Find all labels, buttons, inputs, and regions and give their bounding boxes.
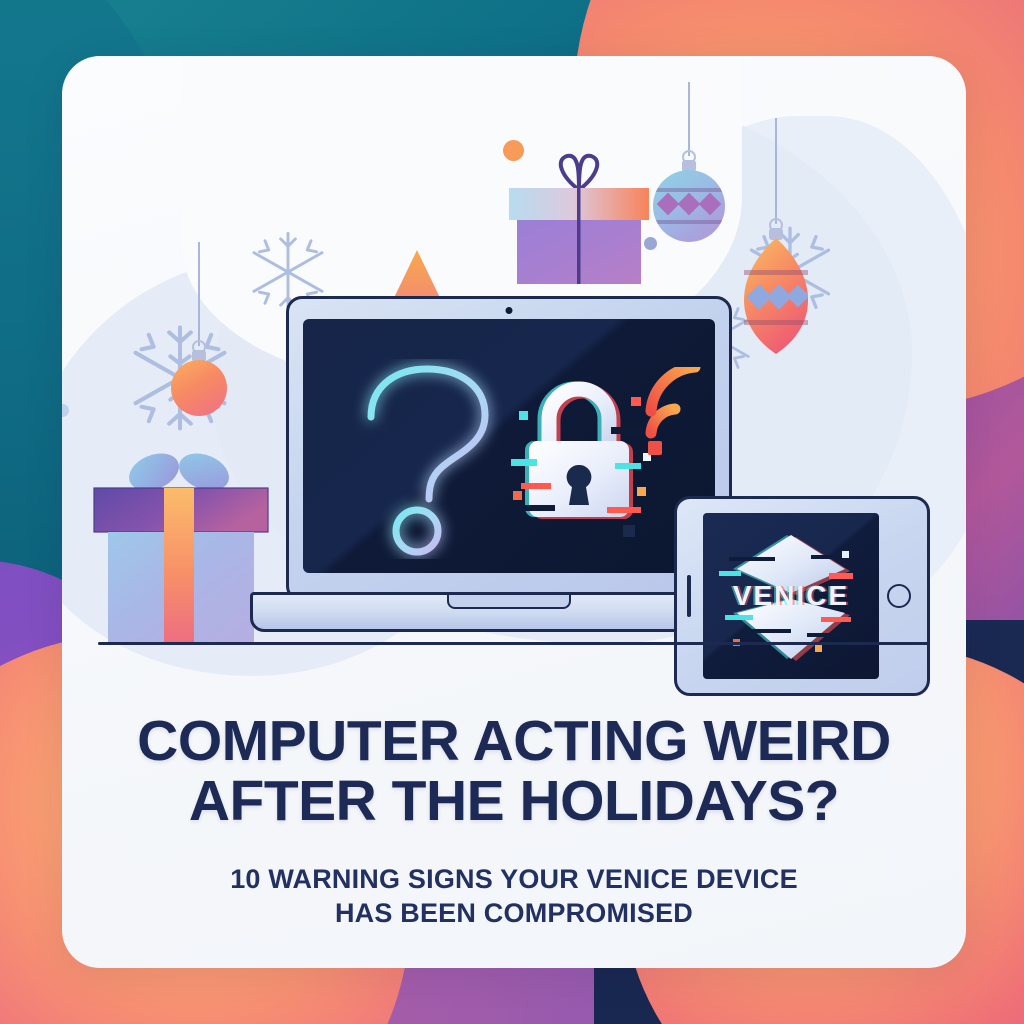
tablet-body: VENICE bbox=[674, 496, 930, 696]
decor-dot bbox=[62, 404, 69, 417]
webcam-icon bbox=[506, 307, 513, 314]
tablet-screen: VENICE bbox=[703, 513, 879, 679]
tablet-speaker bbox=[687, 575, 691, 617]
laptop-lid bbox=[286, 296, 732, 602]
page-subtitle: 10 WARNING SIGNS YOUR VENICE DEVICE HAS … bbox=[62, 862, 966, 931]
padlock-icon bbox=[511, 367, 681, 537]
question-mark-icon bbox=[345, 359, 515, 559]
poster-canvas: VENICE COMPUTER ACTING WEIRD AFTER THE H… bbox=[0, 0, 1024, 1024]
venice-logo-text: VENICE bbox=[733, 580, 849, 612]
ornament-icon bbox=[170, 242, 228, 402]
laptop-trackpad bbox=[447, 595, 571, 609]
content-card: VENICE COMPUTER ACTING WEIRD AFTER THE H… bbox=[62, 56, 966, 968]
subhead-line-1: 10 WARNING SIGNS YOUR VENICE DEVICE bbox=[230, 864, 798, 894]
subhead-line-2: HAS BEEN COMPROMISED bbox=[62, 896, 966, 931]
gift-box-icon bbox=[499, 148, 659, 284]
headline-line-1: COMPUTER ACTING WEIRD bbox=[137, 709, 891, 773]
ground-line bbox=[98, 642, 930, 645]
laptop-device bbox=[286, 296, 726, 616]
page-title: COMPUTER ACTING WEIRD AFTER THE HOLIDAYS… bbox=[62, 711, 966, 832]
venice-logo: VENICE bbox=[703, 513, 879, 679]
tablet-device: VENICE bbox=[674, 496, 930, 696]
laptop-screen bbox=[303, 319, 715, 573]
text-block: COMPUTER ACTING WEIRD AFTER THE HOLIDAYS… bbox=[62, 711, 966, 931]
headline-line-2: AFTER THE HOLIDAYS? bbox=[62, 771, 966, 831]
illustration-scene: VENICE bbox=[62, 56, 966, 656]
ornament-icon bbox=[740, 118, 812, 358]
tablet-home-button[interactable] bbox=[887, 584, 911, 608]
ornament-icon bbox=[652, 82, 726, 272]
